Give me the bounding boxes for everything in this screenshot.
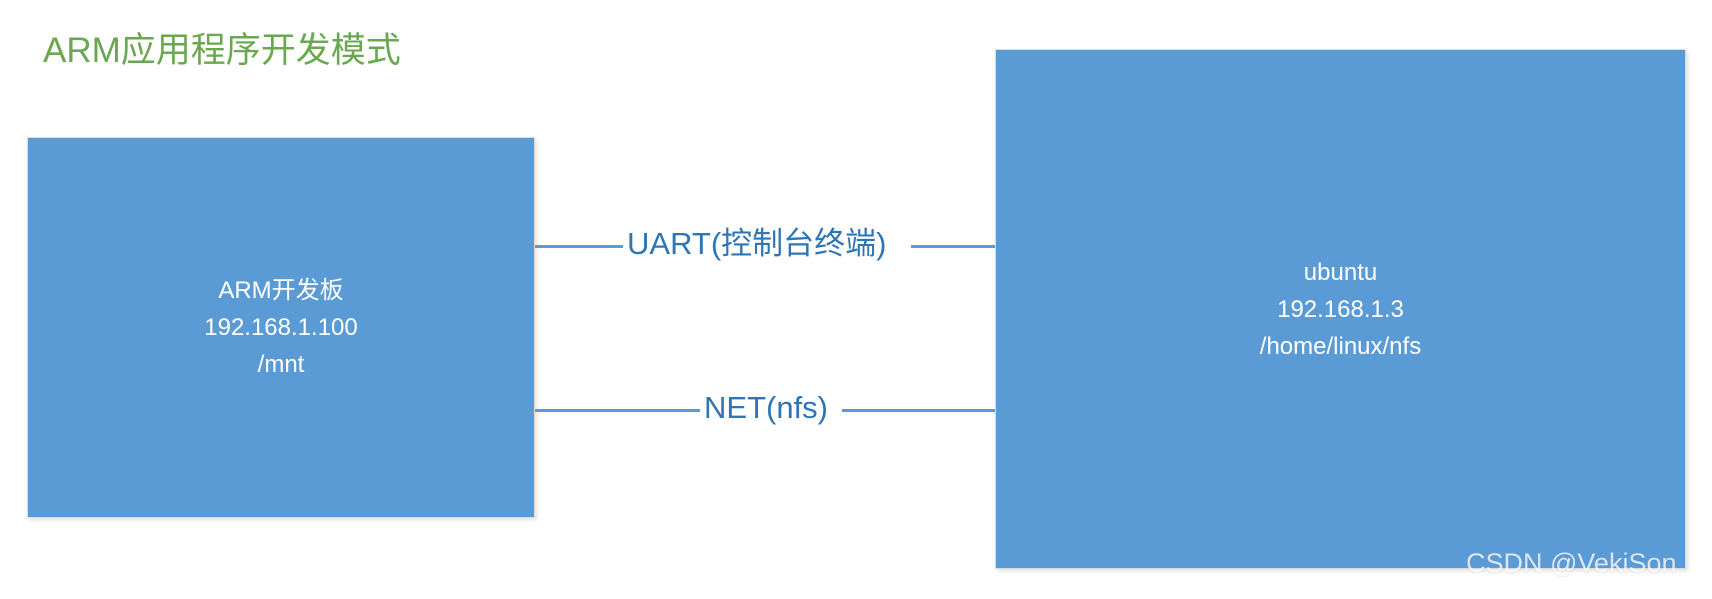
page-title: ARM应用程序开发模式 (43, 29, 401, 73)
node-arm-board-path: /mnt (258, 346, 305, 383)
connector-net-right-segment (842, 409, 995, 412)
node-ubuntu-ip: 192.168.1.3 (1277, 291, 1404, 328)
connector-uart-right-segment (911, 245, 995, 248)
connector-net-left-segment (535, 409, 705, 412)
connector-label-uart: UART(控制台终端) (623, 228, 890, 259)
node-ubuntu-name: ubuntu (1304, 254, 1377, 291)
node-ubuntu-path: /home/linux/nfs (1260, 328, 1421, 365)
node-arm-board-name: ARM开发板 (218, 272, 343, 309)
diagram-canvas: ARM应用程序开发模式 ARM开发板 192.168.1.100 /mnt ub… (0, 0, 1712, 599)
node-ubuntu[interactable]: ubuntu 192.168.1.3 /home/linux/nfs (995, 49, 1686, 569)
connector-label-net: NET(nfs) (700, 392, 832, 423)
node-arm-board[interactable]: ARM开发板 192.168.1.100 /mnt (27, 137, 535, 518)
node-arm-board-ip: 192.168.1.100 (204, 309, 357, 346)
connector-uart-left-segment (535, 245, 637, 248)
